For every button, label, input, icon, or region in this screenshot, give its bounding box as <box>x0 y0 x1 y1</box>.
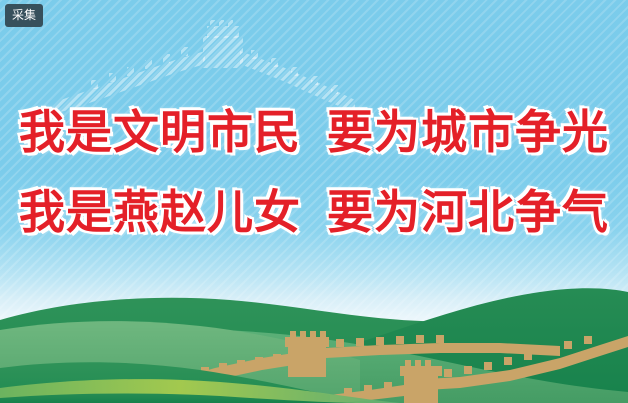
slogan-line-2: 我是燕赵儿女要为河北争气 <box>0 172 628 252</box>
slogan-line-1: 我是文明市民要为城市争光 <box>0 92 628 172</box>
slogan-line1-right: 要为城市争光 <box>327 105 609 159</box>
slogan-line2-right: 要为河北争气 <box>327 185 609 239</box>
capture-button[interactable]: 采集 <box>5 4 43 27</box>
slogan-line2-left: 我是燕赵儿女 <box>19 185 301 239</box>
slogan-banner: 我是文明市民要为城市争光 我是燕赵儿女要为河北争气 采集 <box>0 0 628 403</box>
slogan-line1-left: 我是文明市民 <box>19 105 301 159</box>
slogan-text-block: 我是文明市民要为城市争光 我是燕赵儿女要为河北争气 <box>0 92 628 252</box>
